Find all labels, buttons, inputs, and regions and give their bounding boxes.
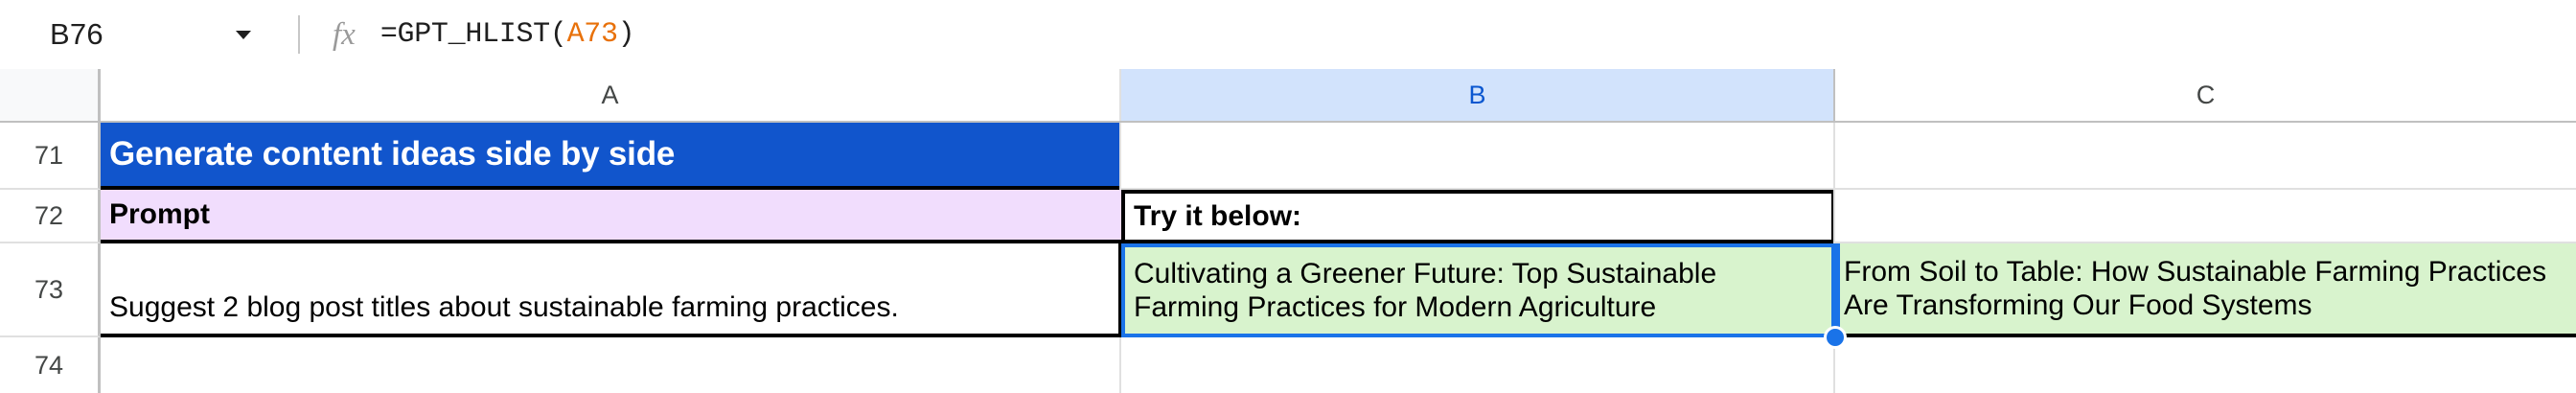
row-header-71[interactable]: 71 <box>0 123 101 190</box>
cell-c74[interactable] <box>1835 337 2576 393</box>
column-header-c[interactable]: C <box>1835 69 2576 121</box>
cell-b74[interactable] <box>1121 337 1835 393</box>
cell-a71[interactable]: Generate content ideas side by side <box>101 123 1121 190</box>
cell-b73-text: Cultivating a Greener Future: Top Sustai… <box>1134 257 1823 325</box>
cell-b72[interactable]: Try it below: <box>1121 190 1835 243</box>
cell-b73[interactable]: Cultivating a Greener Future: Top Sustai… <box>1121 243 1835 337</box>
column-header-row: A B C <box>0 69 2576 123</box>
select-all-corner[interactable] <box>0 69 101 121</box>
row-header-73-label: 73 <box>34 275 63 305</box>
gridline-ab-71 <box>1119 123 1121 190</box>
formula-suffix: ) <box>618 18 635 51</box>
gridline-bc-72 <box>1833 190 1835 243</box>
cell-a72-text: Prompt <box>109 197 210 231</box>
cell-c72[interactable] <box>1835 190 2576 243</box>
column-header-a-label: A <box>601 81 618 110</box>
cell-a71-text: Generate content ideas side by side <box>109 134 675 173</box>
formula-cell-reference: A73 <box>567 18 618 51</box>
cell-a73-text: Suggest 2 blog post titles about sustain… <box>109 290 899 324</box>
row-header-71-label: 71 <box>34 141 63 171</box>
formula-bar-divider <box>298 15 300 54</box>
gridline-ab-74 <box>1119 337 1121 393</box>
cell-c71[interactable] <box>1835 123 2576 190</box>
row-header-72[interactable]: 72 <box>0 190 101 243</box>
chevron-down-icon[interactable] <box>227 21 260 48</box>
row-header-74[interactable]: 74 <box>0 337 101 393</box>
cell-a73[interactable]: Suggest 2 blog post titles about sustain… <box>101 243 1121 337</box>
cell-c73-text: From Soil to Table: How Sustainable Farm… <box>1844 255 2567 323</box>
fill-handle[interactable] <box>1824 326 1847 349</box>
column-header-c-label: C <box>2196 81 2216 110</box>
column-header-a[interactable]: A <box>101 69 1121 121</box>
formula-bar: B76 fx =GPT_HLIST(A73) <box>0 0 2576 69</box>
row-header-74-label: 74 <box>34 351 63 381</box>
cell-b71[interactable] <box>1121 123 1835 190</box>
cell-a72[interactable]: Prompt <box>101 190 1121 243</box>
spreadsheet-grid: A B C 71 72 73 74 Generate content ideas… <box>0 69 2576 393</box>
row-header-73[interactable]: 73 <box>0 243 101 337</box>
formula-input[interactable]: =GPT_HLIST(A73) <box>380 18 635 51</box>
cell-c73[interactable]: From Soil to Table: How Sustainable Farm… <box>1835 243 2576 337</box>
cell-b72-text: Try it below: <box>1134 199 1301 233</box>
selection-spill-edge <box>1835 243 1840 337</box>
column-header-b-label: B <box>1468 81 1485 110</box>
row-header-72-label: 72 <box>34 201 63 231</box>
fx-icon: fx <box>333 17 356 53</box>
column-header-b[interactable]: B <box>1121 69 1835 121</box>
formula-prefix: =GPT_HLIST( <box>380 18 567 51</box>
gridline-bc-71 <box>1833 123 1835 190</box>
name-box[interactable]: B76 <box>50 17 227 52</box>
cell-a74[interactable] <box>101 337 1121 393</box>
